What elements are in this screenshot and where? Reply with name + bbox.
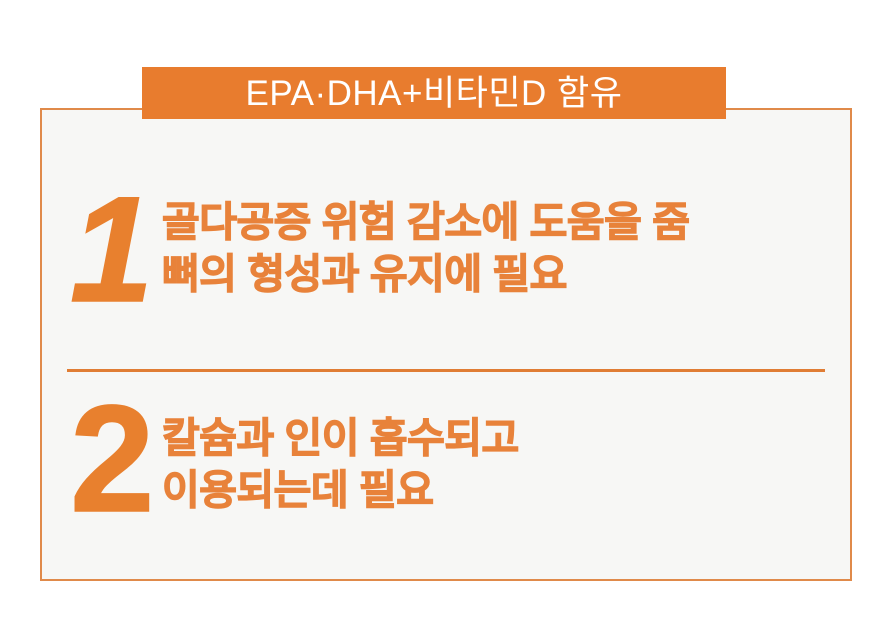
benefit-item-1: 1 골다공증 위험 감소에 도움을 줌 뼈의 형성과 유지에 필요 [70,180,689,318]
benefit-line-2-2: 이용되는데 필요 [162,464,519,516]
header-banner: EPA·DHA+비타민D 함유 [142,67,726,119]
benefit-text-block-2: 칼슘과 인이 흡수되고 이용되는데 필요 [162,390,519,517]
benefit-line-1-2: 뼈의 형성과 유지에 필요 [162,248,689,300]
header-banner-label: EPA·DHA+비타민D 함유 [246,76,623,111]
promo-card-stage: EPA·DHA+비타민D 함유 1 골다공증 위험 감소에 도움을 줌 뼈의 형… [0,0,892,628]
benefit-line-1-1: 골다공증 위험 감소에 도움을 줌 [162,196,689,248]
benefit-number-1: 1 [70,180,152,318]
benefit-item-2: 2 칼슘과 인이 흡수되고 이용되는데 필요 [70,390,519,530]
benefit-line-2-1: 칼슘과 인이 흡수되고 [162,412,519,464]
benefit-number-2: 2 [70,390,152,530]
benefit-text-block-1: 골다공증 위험 감소에 도움을 줌 뼈의 형성과 유지에 필요 [162,180,689,301]
section-divider [67,369,825,372]
